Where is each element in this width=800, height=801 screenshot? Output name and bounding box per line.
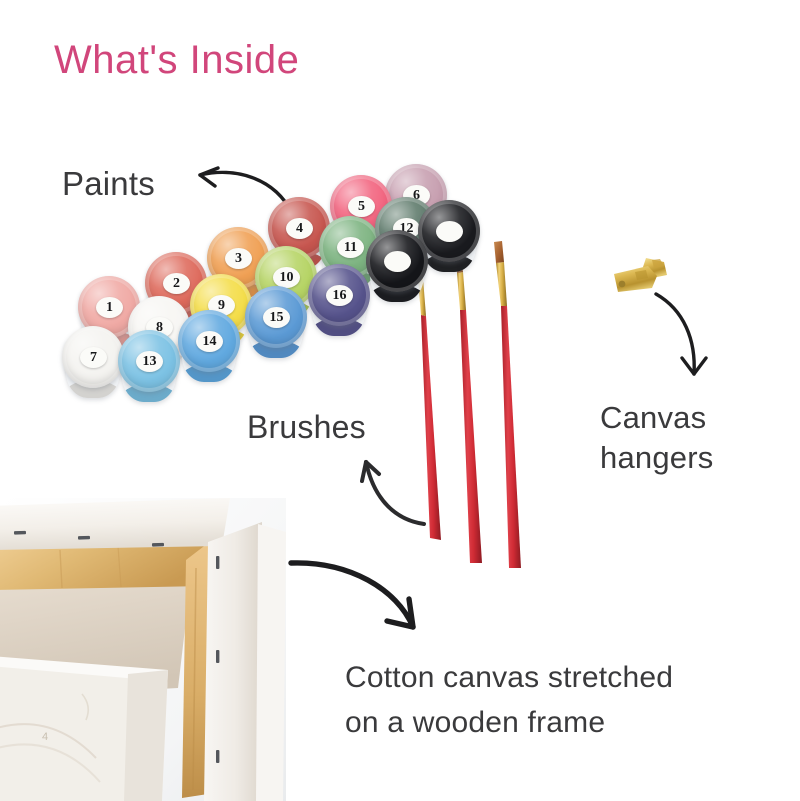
paint-pot-number-label: 11 bbox=[337, 237, 364, 258]
paint-pot-number-label: 13 bbox=[136, 351, 163, 372]
page-title: What's Inside bbox=[54, 38, 299, 83]
paint-pot-number-label: 3 bbox=[225, 248, 252, 269]
paint-pot-14: 14 bbox=[178, 310, 240, 372]
paint-pot-number-label: 16 bbox=[326, 285, 353, 306]
paint-pot-7: 7 bbox=[62, 326, 124, 388]
label-cotton-canvas: Cotton canvas stretched on a wooden fram… bbox=[345, 655, 673, 745]
paint-pot-number-label: 10 bbox=[273, 267, 300, 288]
brush-flat bbox=[494, 241, 521, 568]
paint-pot-number-label bbox=[436, 221, 463, 242]
paint-pot-number-label: 1 bbox=[96, 297, 123, 318]
label-canvas-hangers: Canvas hangers bbox=[600, 398, 713, 477]
paint-pot-13: 13 bbox=[118, 330, 180, 392]
paint-pot-number-label: 2 bbox=[163, 273, 190, 294]
paint-pot-number-label: 14 bbox=[196, 331, 223, 352]
paint-pot-number-label: 4 bbox=[286, 218, 313, 239]
paint-pot-15: 15 bbox=[245, 286, 307, 348]
paint-pot-number-label bbox=[384, 251, 411, 272]
paint-pot-number-label: 15 bbox=[263, 307, 290, 328]
arrow-to-brushes-icon bbox=[352, 452, 442, 527]
paint-brushes-group bbox=[408, 238, 558, 578]
canvas-product-photo: 4 bbox=[0, 498, 286, 801]
label-brushes: Brushes bbox=[247, 407, 366, 448]
brush-round-small bbox=[456, 240, 482, 563]
paint-pot-unnumbered-17 bbox=[418, 200, 480, 262]
infographic-canvas: What's Inside 17813291431015411165126 bbox=[0, 0, 800, 801]
canvas-stamp-number: 4 bbox=[42, 731, 48, 743]
paint-pot-number-label: 7 bbox=[80, 347, 107, 368]
paint-pot-number-label: 5 bbox=[348, 196, 375, 217]
paint-pot-unnumbered-16 bbox=[366, 230, 428, 292]
arrow-to-canvas-icon bbox=[283, 545, 443, 650]
arrow-to-hangers-icon bbox=[650, 288, 720, 388]
paint-pot-16: 16 bbox=[308, 264, 370, 326]
label-paints: Paints bbox=[62, 163, 155, 205]
